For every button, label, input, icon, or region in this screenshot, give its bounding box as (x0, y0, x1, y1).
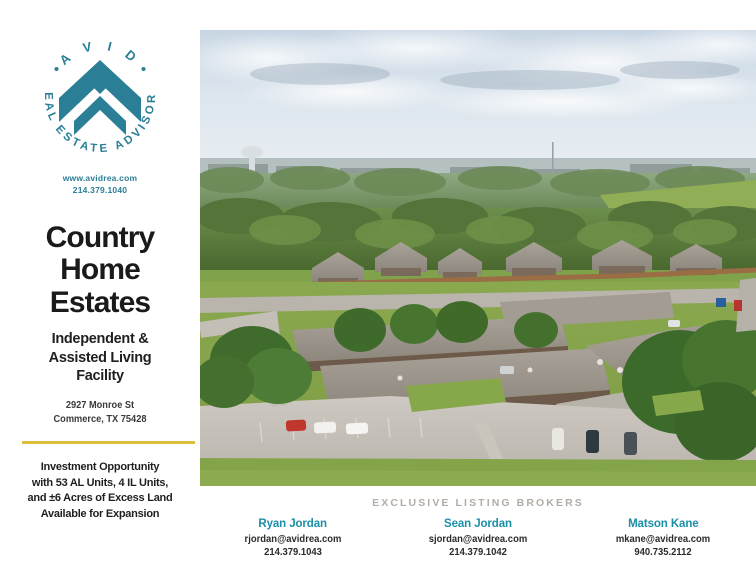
broker-name: Sean Jordan (389, 517, 567, 533)
subtitle-line-2: Assisted Living (10, 349, 190, 368)
broker-phone[interactable]: 214.379.1042 (398, 546, 558, 560)
subtitle-line-1: Independent & (10, 330, 190, 349)
flyer-page: A V I D REAL ESTATE ADVISORS www.avidrea… (0, 0, 756, 588)
aerial-property-photo (200, 30, 756, 486)
gold-divider (22, 441, 195, 444)
investment-line-1: Investment Opportunity (6, 460, 194, 476)
title-line-1: Country (0, 222, 200, 254)
page-title: Country Home Estates (0, 222, 200, 319)
title-line-2: Home (0, 254, 200, 286)
address-city-state-zip: Commerce, TX 75428 (21, 412, 179, 426)
investment-summary: Investment Opportunity with 53 AL Units,… (6, 460, 194, 522)
brokers-heading: EXCLUSIVE LISTING BROKERS (200, 497, 756, 509)
investment-line-3: and ±6 Acres of Excess Land (6, 491, 194, 507)
broker-name: Matson Kane (574, 517, 752, 533)
brand-website[interactable]: www.avidrea.com (0, 172, 200, 184)
title-line-3: Estates (0, 287, 200, 319)
broker-card: Sean Jordan sjordan@avidrea.com 214.379.… (389, 517, 567, 560)
brand-contact: www.avidrea.com 214.379.1040 (0, 172, 200, 197)
subtitle-line-3: Facility (10, 367, 190, 386)
avid-logo: A V I D REAL ESTATE ADVISORS (25, 22, 175, 172)
property-subtitle: Independent & Assisted Living Facility (10, 330, 190, 386)
investment-line-4: Available for Expansion (6, 507, 194, 523)
broker-card: Ryan Jordan rjordan@avidrea.com 214.379.… (204, 517, 382, 560)
broker-name: Ryan Jordan (204, 517, 382, 533)
investment-line-2: with 53 AL Units, 4 IL Units, (6, 476, 194, 492)
broker-phone[interactable]: 214.379.1043 (213, 546, 373, 560)
left-info-panel: A V I D REAL ESTATE ADVISORS www.avidrea… (0, 0, 200, 588)
broker-phone[interactable]: 940.735.2112 (583, 546, 743, 560)
broker-email[interactable]: sjordan@avidrea.com (398, 533, 558, 547)
broker-email[interactable]: mkane@avidrea.com (583, 533, 743, 547)
address-street: 2927 Monroe St (21, 398, 179, 412)
aerial-photo-graphic (200, 30, 756, 486)
broker-card: Matson Kane mkane@avidrea.com 940.735.21… (574, 517, 752, 560)
property-address: 2927 Monroe St Commerce, TX 75428 (10, 398, 190, 426)
avid-logo-icon: A V I D REAL ESTATE ADVISORS (25, 22, 175, 172)
brand-phone[interactable]: 214.379.1040 (0, 184, 200, 196)
broker-email[interactable]: rjordan@avidrea.com (213, 533, 373, 547)
brokers-list: Ryan Jordan rjordan@avidrea.com 214.379.… (200, 517, 756, 560)
